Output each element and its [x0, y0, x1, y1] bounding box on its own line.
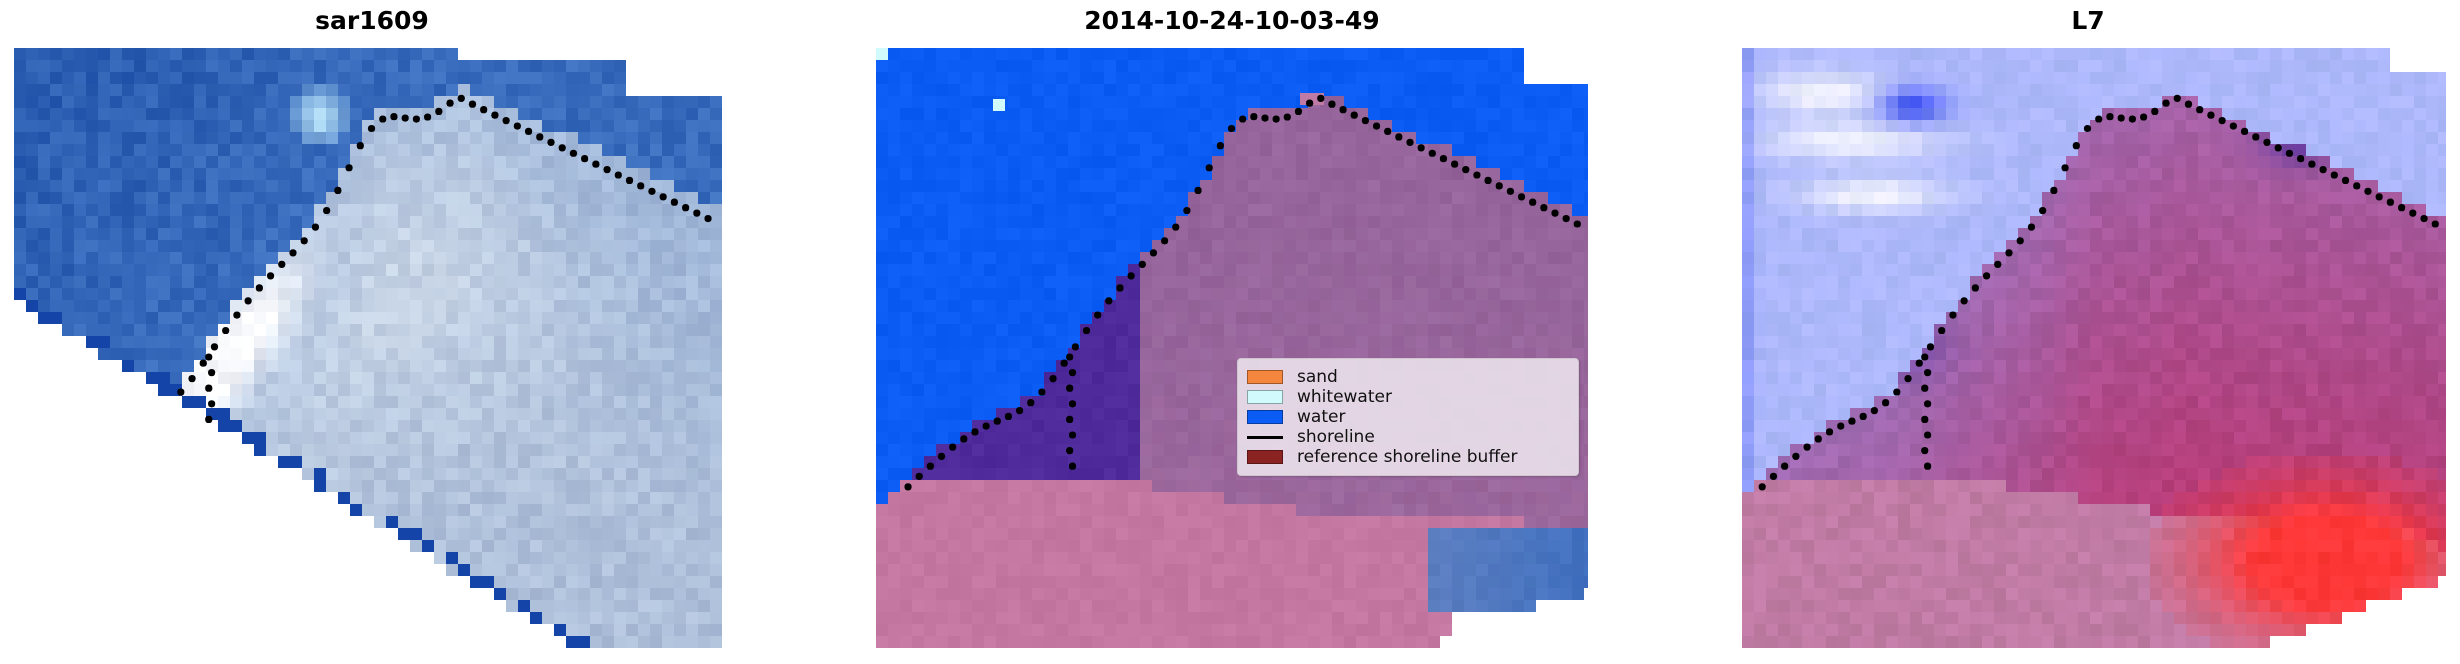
raster-l7 — [1730, 48, 2446, 648]
panel-l7: L7 — [1730, 0, 2446, 664]
legend-item-water: water — [1247, 407, 1568, 427]
panel-title-sar1609: sar1609 — [14, 6, 730, 36]
panel-image-sar1609 — [14, 48, 730, 648]
legend-label: whitewater — [1297, 387, 1392, 407]
panel-classification: 2014-10-24-10-03-49 — [876, 0, 1588, 664]
legend-item-sand: sand — [1247, 367, 1568, 387]
legend-swatch-reference-shoreline-buffer-icon — [1247, 450, 1283, 464]
legend-swatch-water-icon — [1247, 410, 1283, 424]
legend-label: water — [1297, 407, 1345, 427]
legend-label: shoreline — [1297, 427, 1375, 447]
legend-label: reference shoreline buffer — [1297, 447, 1518, 467]
legend-item-shoreline: shoreline — [1247, 427, 1568, 447]
legend-swatch-sand-icon — [1247, 370, 1283, 384]
legend-item-reference-shoreline-buffer: reference shoreline buffer — [1247, 447, 1568, 467]
legend-swatch-whitewater-icon — [1247, 390, 1283, 404]
legend-item-whitewater: whitewater — [1247, 387, 1568, 407]
figure-root: sar1609 2014-10-24-10-03-49 L7 sandwhite… — [0, 0, 2460, 664]
panel-title-l7: L7 — [1730, 6, 2446, 36]
raster-classification — [876, 48, 1588, 648]
raster-sar1609 — [14, 48, 730, 648]
panel-title-classification: 2014-10-24-10-03-49 — [876, 6, 1588, 36]
panel-sar1609: sar1609 — [14, 0, 730, 664]
panel-image-classification — [876, 48, 1588, 648]
legend-label: sand — [1297, 367, 1338, 387]
legend-swatch-shoreline-icon — [1247, 430, 1283, 444]
legend: sandwhitewaterwatershorelinereference sh… — [1237, 358, 1579, 476]
panel-image-l7 — [1730, 48, 2446, 648]
